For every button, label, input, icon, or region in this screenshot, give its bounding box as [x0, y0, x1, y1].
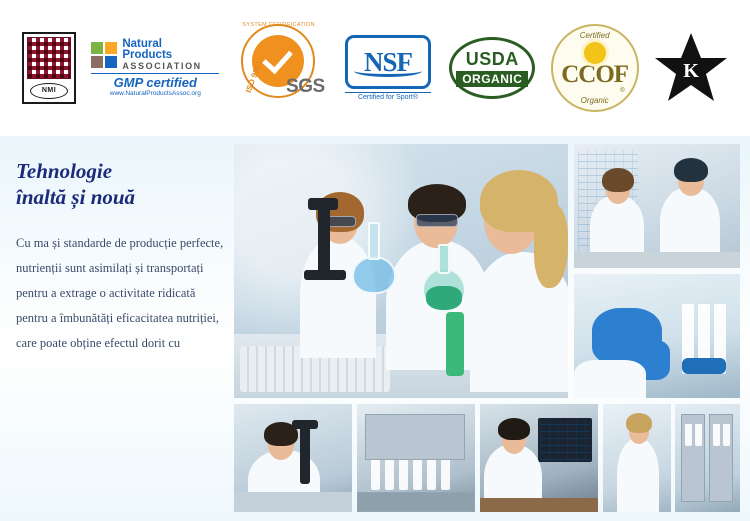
- hero-title: Tehnologie înaltă și nouă: [16, 158, 228, 211]
- star-icon: K: [654, 31, 728, 105]
- photo-bottling-production-line: [357, 404, 475, 512]
- ccof-registered-mark: ®: [620, 88, 624, 94]
- photo-lab-staff-walking: [603, 404, 671, 512]
- hero-text-column: Tehnologie înaltă și nouă Cu ma și stand…: [16, 158, 228, 356]
- ccof-top-label: Certified: [553, 31, 637, 40]
- cert-usda-organic: USDA ORGANIC: [449, 37, 535, 99]
- photo-lab-technicians-flask: [234, 144, 568, 398]
- photo-scientist-computer-screen: [480, 404, 598, 512]
- npa-url-label: www.NaturalProductsAssoc.org: [91, 90, 219, 97]
- photo-collage: [234, 144, 740, 512]
- photo-lab-equipment-rack: [675, 404, 740, 512]
- ccof-letters: CCOF: [561, 61, 628, 89]
- npa-line3: ASSOCIATION: [122, 62, 201, 71]
- cert-kosher-star-k: K: [654, 31, 728, 105]
- product-feature-banner: NMI Natural Products ASSOCIATION GMP cer…: [0, 0, 750, 521]
- nmi-label: NMI: [30, 83, 68, 99]
- photo-office-meeting-laptop: [574, 144, 740, 268]
- hero-section: Tehnologie înaltă și nouă Cu ma și stand…: [0, 136, 750, 521]
- sun-icon: [584, 42, 606, 64]
- nmi-pattern-icon: [27, 37, 71, 79]
- usda-line2: ORGANIC: [456, 71, 528, 87]
- photo-lab-worker-microscope: [234, 404, 352, 512]
- svg-text:K: K: [683, 60, 699, 82]
- cert-nsf-sport: NSF Certified for Sport®: [342, 35, 434, 101]
- certification-logo-bar: NMI Natural Products ASSOCIATION GMP cer…: [0, 0, 750, 136]
- photo-gloved-hand-pipette-vials: [574, 274, 740, 398]
- nsf-subtitle: Certified for Sport®: [345, 92, 431, 101]
- usda-line1: USDA: [466, 49, 519, 70]
- ccof-bottom-label: Organic: [553, 96, 637, 105]
- npa-gmp-label: GMP certified: [91, 73, 219, 90]
- cert-ccof-organic: Certified CCOF ® Organic: [551, 24, 639, 112]
- npa-squares-icon: [91, 42, 117, 68]
- hero-body-text: Cu ma și standarde de producție perfecte…: [16, 231, 228, 356]
- cert-sgs-iso: SYSTEM CERTIFICATION ISO 9001 SGS: [235, 22, 327, 114]
- nsf-swoosh-icon: [354, 65, 422, 77]
- sgs-wordmark: SGS: [286, 76, 325, 98]
- cert-nmi-badge: NMI: [22, 32, 76, 104]
- cert-natural-products-association: Natural Products ASSOCIATION GMP certifi…: [91, 39, 219, 98]
